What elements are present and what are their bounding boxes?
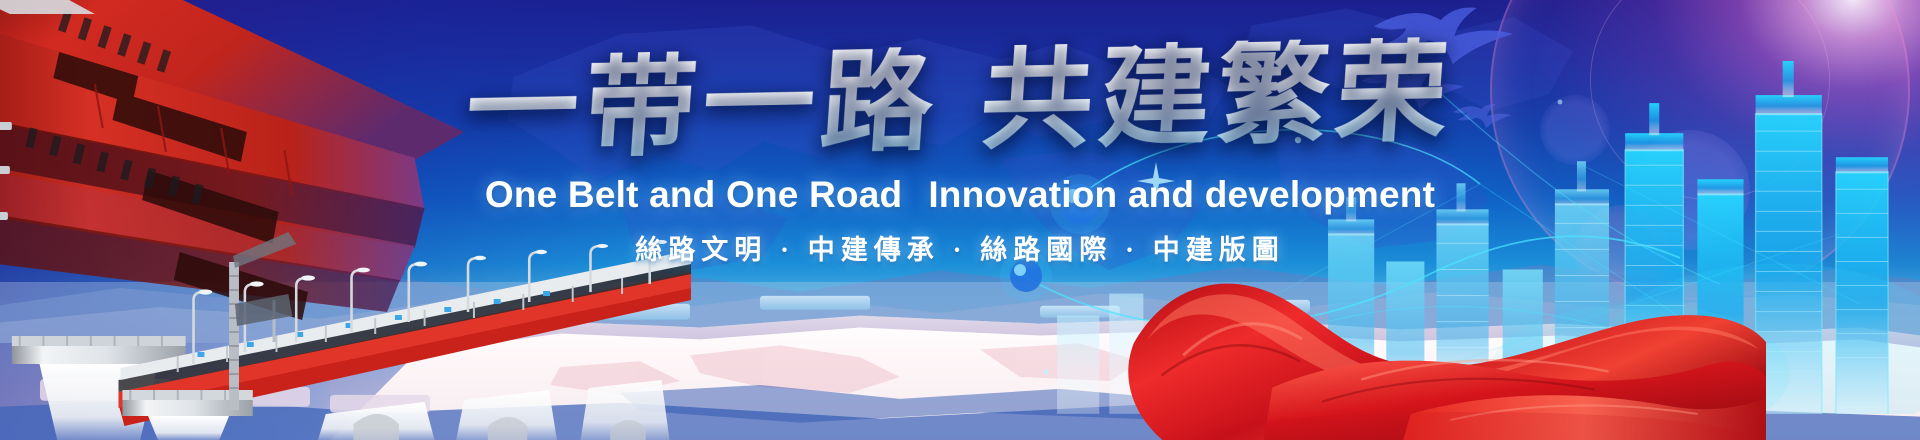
banner-text-block: 一带一路共建繁荣 One Belt and One RoadInnovation… — [0, 0, 1920, 440]
one-belt-one-road-banner: 一带一路共建繁荣 One Belt and One RoadInnovation… — [0, 0, 1920, 440]
subtitle-english: One Belt and One RoadInnovation and deve… — [485, 174, 1435, 216]
subtitle-en-part2: Innovation and development — [928, 174, 1435, 215]
subtitle-en-part1: One Belt and One Road — [485, 174, 902, 215]
headline-part1: 一带一路 — [462, 40, 943, 173]
headline-part2: 共建繁荣 — [977, 31, 1458, 164]
headline-gap — [936, 139, 978, 140]
subtitle-chinese: 絲路文明 · 中建傳承 · 絲路國際 · 中建版圖 — [635, 228, 1285, 267]
page-title: 一带一路共建繁荣 — [462, 37, 1457, 168]
